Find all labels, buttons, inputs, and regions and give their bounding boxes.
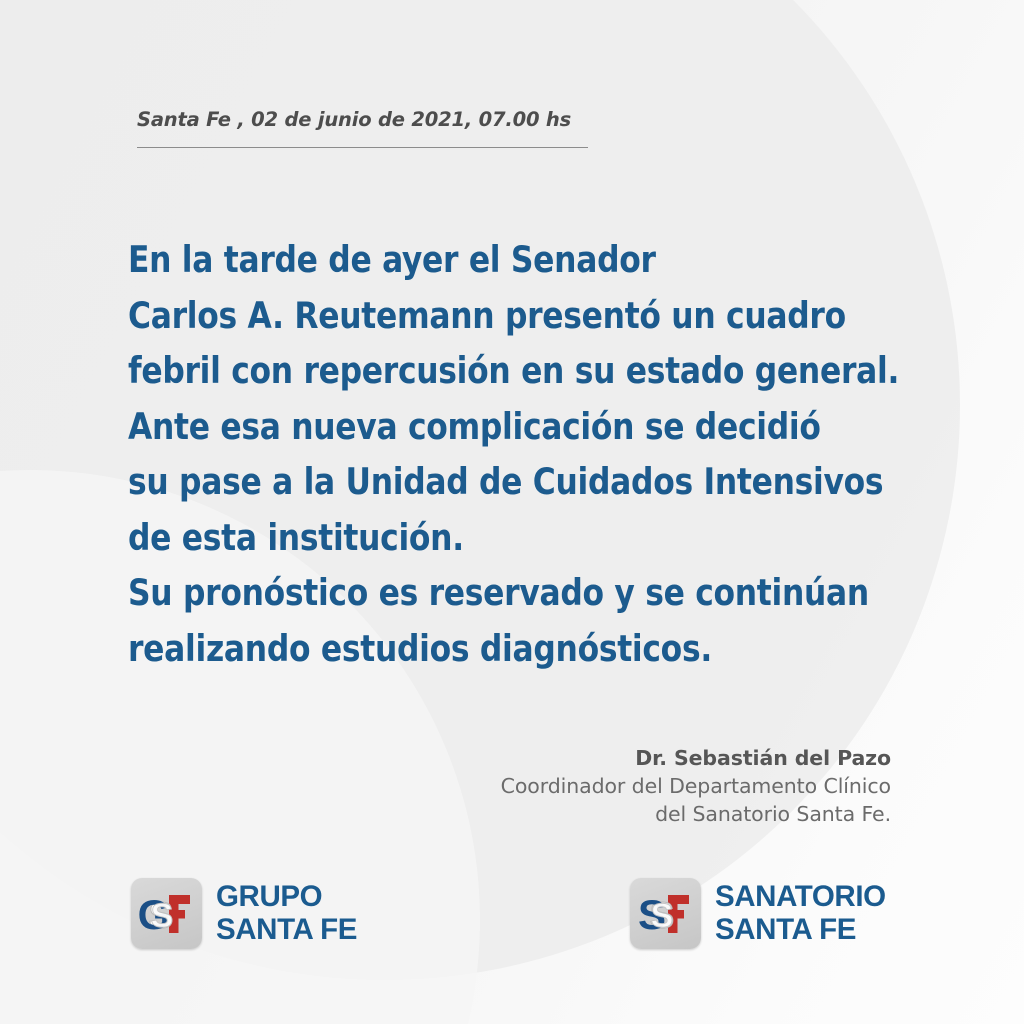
announcement-card: Santa Fe , 02 de junio de 2021, 07.00 hs…	[0, 0, 1024, 1024]
grupo-santa-fe-monogram-icon: S G S	[131, 878, 202, 949]
statement-line: realizando estudios diagnósticos.	[128, 621, 968, 677]
statement-line: Su pronóstico es reservado y se continúa…	[128, 565, 968, 621]
statement-line: Ante esa nueva complicación se decidió	[128, 399, 968, 455]
logo-grupo-santa-fe[interactable]: S G S GRUPO SANTA FE	[131, 878, 357, 949]
svg-text:S: S	[651, 897, 674, 935]
date-block: Santa Fe , 02 de junio de 2021, 07.00 hs	[137, 108, 589, 148]
statement-line: febril con repercusión en su estado gene…	[128, 343, 968, 399]
logo-word-line-1: GRUPO	[216, 881, 357, 913]
grupo-santa-fe-wordmark: GRUPO SANTA FE	[216, 881, 357, 945]
logo-word-line-2: SANTA FE	[216, 914, 357, 946]
signature-role-line-2: del Sanatorio Santa Fe.	[501, 800, 891, 828]
svg-text:S: S	[151, 897, 174, 935]
logo-word-line-1: SANATORIO	[715, 881, 886, 913]
signature-role-line-1: Coordinador del Departamento Clínico	[501, 772, 891, 800]
signature-block: Dr. Sebastián del Pazo Coordinador del D…	[501, 744, 891, 828]
statement-line: En la tarde de ayer el Senador	[128, 232, 968, 288]
dateline-text: Santa Fe , 02 de junio de 2021, 07.00 hs	[137, 108, 589, 131]
logo-word-line-2: SANTA FE	[715, 914, 886, 946]
sanatorio-santa-fe-monogram-icon: S S S	[630, 878, 701, 949]
dateline-divider	[137, 147, 588, 148]
sanatorio-santa-fe-wordmark: SANATORIO SANTA FE	[715, 881, 886, 945]
card-content: Santa Fe , 02 de junio de 2021, 07.00 hs…	[0, 0, 1024, 1024]
statement-line: su pase a la Unidad de Cuidados Intensiv…	[128, 454, 968, 510]
statement-line: de esta institución.	[128, 510, 968, 566]
signature-name: Dr. Sebastián del Pazo	[501, 744, 891, 772]
logo-sanatorio-santa-fe[interactable]: S S S SANATORIO SANTA FE	[630, 878, 886, 949]
statement-body: En la tarde de ayer el Senador Carlos A.…	[128, 232, 1008, 676]
statement-line: Carlos A. Reutemann presentó un cuadro	[128, 288, 968, 344]
